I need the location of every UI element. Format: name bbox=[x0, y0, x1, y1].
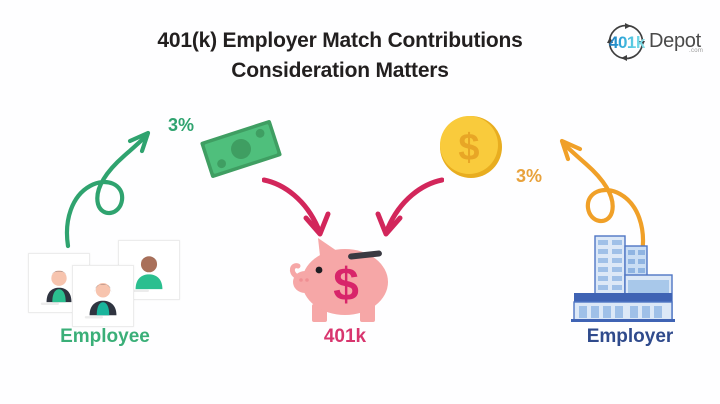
title-line-2: Consideration Matters bbox=[90, 56, 590, 86]
infographic-canvas: 401(k) Employer Match Contributions Cons… bbox=[0, 0, 720, 404]
employer-percent-label: 3% bbox=[516, 166, 542, 187]
avatar-card bbox=[72, 265, 134, 327]
logo-tld-text: .com bbox=[689, 48, 703, 54]
employee-label: Employee bbox=[20, 326, 190, 348]
employee-percent-label: 3% bbox=[168, 115, 194, 136]
curved-loop-arrow-up-right-icon bbox=[58, 108, 170, 250]
piggy-bank-icon: $ bbox=[288, 232, 400, 328]
office-building-icon bbox=[568, 230, 678, 326]
title-line-1: 401(k) Employer Match Contributions bbox=[90, 26, 590, 56]
gold-coin-dollar-icon: $ bbox=[438, 114, 504, 180]
avatar bbox=[79, 272, 127, 320]
brand-logo[interactable]: 401k Depot .com bbox=[606, 20, 710, 62]
logo-mark-text: 401k bbox=[609, 33, 645, 53]
page-title: 401(k) Employer Match Contributions Cons… bbox=[90, 26, 590, 87]
svg-text:$: $ bbox=[333, 258, 359, 310]
employer-label: Employer bbox=[550, 326, 710, 348]
piggy-bank-label: 401k bbox=[290, 326, 400, 348]
person-avatar-icon bbox=[79, 272, 127, 320]
svg-text:$: $ bbox=[458, 127, 479, 169]
